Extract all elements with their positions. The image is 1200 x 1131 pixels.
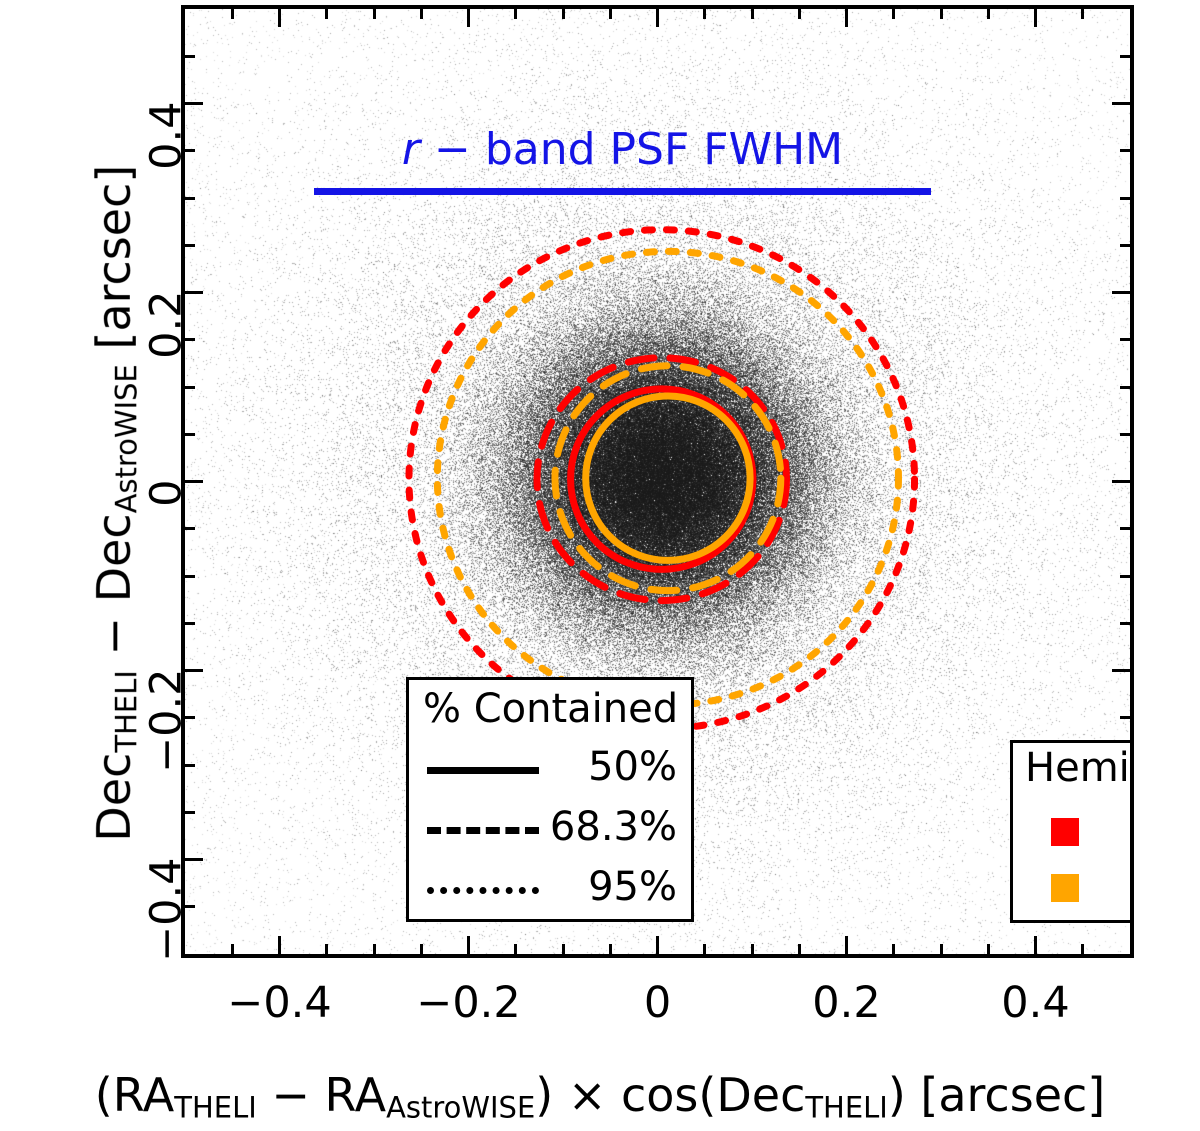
xlabel-mid: ) × cos(Dec <box>535 1068 805 1122</box>
tick-mark <box>420 944 423 954</box>
tick-mark <box>231 944 234 954</box>
legend-hemisphere: Hemisphere North South <box>1010 740 1134 923</box>
tick-mark <box>467 9 470 27</box>
legend-line-dashed <box>427 827 539 834</box>
swatch-north <box>1051 818 1079 846</box>
tick-mark <box>1120 149 1130 152</box>
tick-mark <box>1034 936 1037 954</box>
tick-mark <box>703 944 706 954</box>
x-tick-label: 0 <box>644 982 671 1025</box>
xlabel-sub-theli-2: THELI <box>805 1090 887 1124</box>
legend-item-south: South <box>1013 861 1134 909</box>
tick-mark <box>1120 575 1130 578</box>
y-tick-label: 0.4 <box>146 101 189 251</box>
x-axis-label: (RATHELI − RAAstroWISE) × cos(DecTHELI) … <box>0 1068 1200 1124</box>
y-tick-label: −0.4 <box>146 857 189 1007</box>
swatch-south <box>1051 874 1079 902</box>
tick-mark <box>987 944 990 954</box>
tick-mark <box>562 9 565 19</box>
figure: r − band PSF FWHM % Contained 50% 68.3% … <box>0 0 1200 1131</box>
x-tick-label: 0.4 <box>1001 982 1069 1025</box>
xlabel-minus: − RA <box>257 1068 386 1122</box>
legend-hemisphere-title: Hemisphere <box>1025 745 1134 791</box>
x-tick-label: 0.2 <box>812 982 880 1025</box>
psf-fwhm-bar <box>314 188 930 195</box>
tick-mark <box>845 9 848 27</box>
tick-mark <box>231 9 234 19</box>
tick-mark <box>1120 338 1130 341</box>
tick-mark <box>1120 433 1130 436</box>
xlabel-suffix: ) [arcsec] <box>888 1068 1105 1122</box>
legend-item-north: North <box>1013 805 1134 853</box>
psf-label-text: − band PSF FWHM <box>420 124 843 175</box>
tick-mark <box>845 936 848 954</box>
legend-line-dotted <box>427 887 539 894</box>
tick-mark <box>562 944 565 954</box>
tick-mark <box>373 944 376 954</box>
tick-mark <box>185 55 195 58</box>
tick-mark <box>1120 55 1130 58</box>
contour-south-50pct <box>586 396 750 560</box>
legend-contained-label-0: 50% <box>588 744 677 790</box>
x-tick-label: −0.4 <box>227 982 331 1025</box>
tick-mark <box>609 9 612 19</box>
xlabel-prefix: (RA <box>95 1068 175 1122</box>
tick-mark <box>656 9 659 27</box>
tick-mark <box>373 9 376 19</box>
ylabel-sub-astrowise: AstroWISE <box>109 364 143 513</box>
psf-italic-r: r <box>402 124 420 175</box>
tick-mark <box>1112 669 1130 672</box>
legend-item-95: 95% <box>409 862 691 916</box>
tick-mark <box>1120 622 1130 625</box>
tick-mark <box>940 944 943 954</box>
xlabel-sub-astrowise: AstroWISE <box>386 1090 535 1124</box>
legend-contained-title: % Contained <box>423 686 678 732</box>
tick-mark <box>940 9 943 19</box>
tick-mark <box>798 944 801 954</box>
tick-mark <box>514 9 517 19</box>
xlabel-sub-theli-1: THELI <box>174 1090 256 1124</box>
tick-mark <box>1120 197 1130 200</box>
tick-mark <box>278 9 281 27</box>
tick-mark <box>751 9 754 19</box>
tick-mark <box>751 944 754 954</box>
y-tick-label: −0.2 <box>146 668 189 818</box>
tick-mark <box>278 936 281 954</box>
contour-south-95pct <box>437 251 898 705</box>
tick-mark <box>467 936 470 954</box>
legend-line-solid <box>427 767 539 774</box>
legend-item-683: 68.3% <box>409 802 691 856</box>
tick-mark <box>514 944 517 954</box>
tick-mark <box>609 944 612 954</box>
tick-mark <box>1120 716 1130 719</box>
y-axis-label: DecTHELI − DecAstroWISE [arcsec] <box>87 53 143 953</box>
tick-mark <box>1112 102 1130 105</box>
tick-mark <box>1112 480 1130 483</box>
tick-mark <box>798 9 801 19</box>
tick-mark <box>1120 527 1130 530</box>
legend-item-50: 50% <box>409 742 691 796</box>
contour-north-95pct <box>409 230 915 729</box>
x-tick-label: −0.2 <box>416 982 520 1025</box>
tick-mark <box>1120 244 1130 247</box>
tick-mark <box>1081 9 1084 19</box>
legend-contained-label-2: 95% <box>588 864 677 910</box>
legend-percent-contained: % Contained 50% 68.3% 95% <box>406 677 694 922</box>
psf-fwhm-label: r − band PSF FWHM <box>314 124 930 175</box>
ylabel-suffix: [arcsec] <box>87 165 141 364</box>
y-tick-label: 0 <box>146 479 189 629</box>
tick-mark <box>892 9 895 19</box>
tick-mark <box>987 9 990 19</box>
tick-mark <box>325 9 328 19</box>
tick-mark <box>1120 386 1130 389</box>
legend-contained-label-1: 68.3% <box>550 804 677 850</box>
tick-mark <box>1034 9 1037 27</box>
y-tick-label: 0.2 <box>146 290 189 440</box>
tick-mark <box>656 936 659 954</box>
tick-mark <box>1081 944 1084 954</box>
ylabel-prefix: Dec <box>87 753 141 842</box>
ylabel-minus: − Dec <box>87 513 141 670</box>
tick-mark <box>325 944 328 954</box>
plot-area: r − band PSF FWHM % Contained 50% 68.3% … <box>181 5 1134 958</box>
tick-mark <box>892 944 895 954</box>
tick-mark <box>420 9 423 19</box>
ylabel-sub-theli: THELI <box>109 670 143 752</box>
tick-mark <box>703 9 706 19</box>
tick-mark <box>1112 291 1130 294</box>
